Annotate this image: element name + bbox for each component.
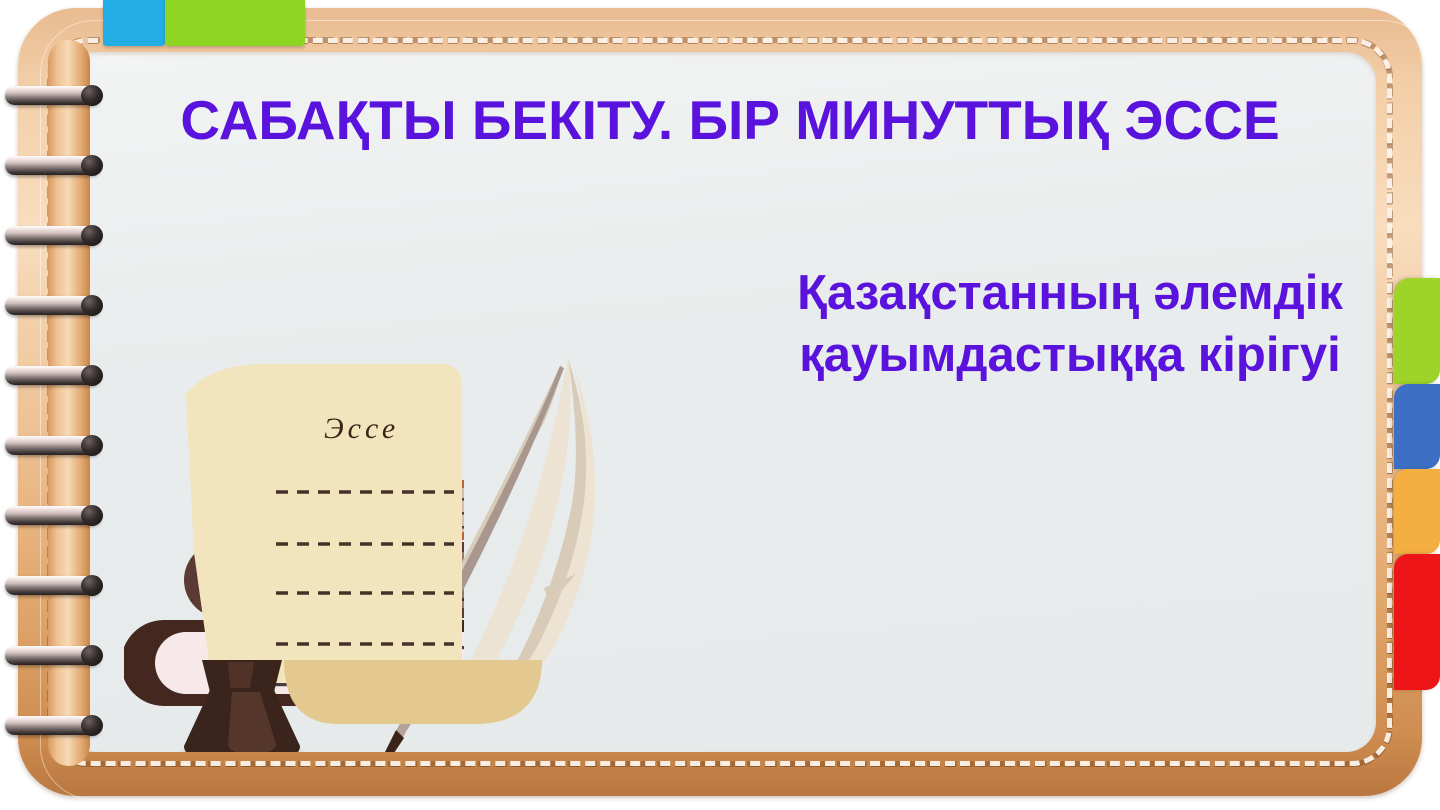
- essay-illustration: Эссе: [124, 352, 744, 752]
- spiral-ring: [5, 646, 101, 665]
- tab-green[interactable]: [1394, 278, 1440, 384]
- slide-canvas: САБАҚТЫ БЕКІТУ. БІР МИНУТТЫҚ ЭССЕ Қазақс…: [0, 0, 1440, 810]
- tab-orange[interactable]: [1394, 469, 1440, 554]
- scroll-label: Эссе: [324, 412, 399, 445]
- spiral-ring: [5, 296, 101, 315]
- slide-title: САБАҚТЫ БЕКІТУ. БІР МИНУТТЫҚ ЭССЕ: [150, 90, 1310, 152]
- tab-cyan[interactable]: [103, 0, 165, 46]
- spiral-ring: [5, 156, 101, 175]
- spiral-ring: [5, 366, 101, 385]
- spiral-ring: [5, 716, 101, 735]
- tab-blue[interactable]: [1394, 384, 1440, 469]
- spiral-ring: [5, 506, 101, 525]
- tab-green[interactable]: [165, 0, 305, 46]
- spiral-ring: [5, 86, 101, 105]
- notebook-page: САБАҚТЫ БЕКІТУ. БІР МИНУТТЫҚ ЭССЕ Қазақс…: [64, 52, 1376, 752]
- spiral-ring: [5, 226, 101, 245]
- tab-red[interactable]: [1394, 554, 1440, 690]
- slide-body-text: Қазақстанның әлемдік қауымдастыққа кіріг…: [790, 262, 1350, 386]
- spiral-ring: [5, 436, 101, 455]
- spiral-ring: [5, 576, 101, 595]
